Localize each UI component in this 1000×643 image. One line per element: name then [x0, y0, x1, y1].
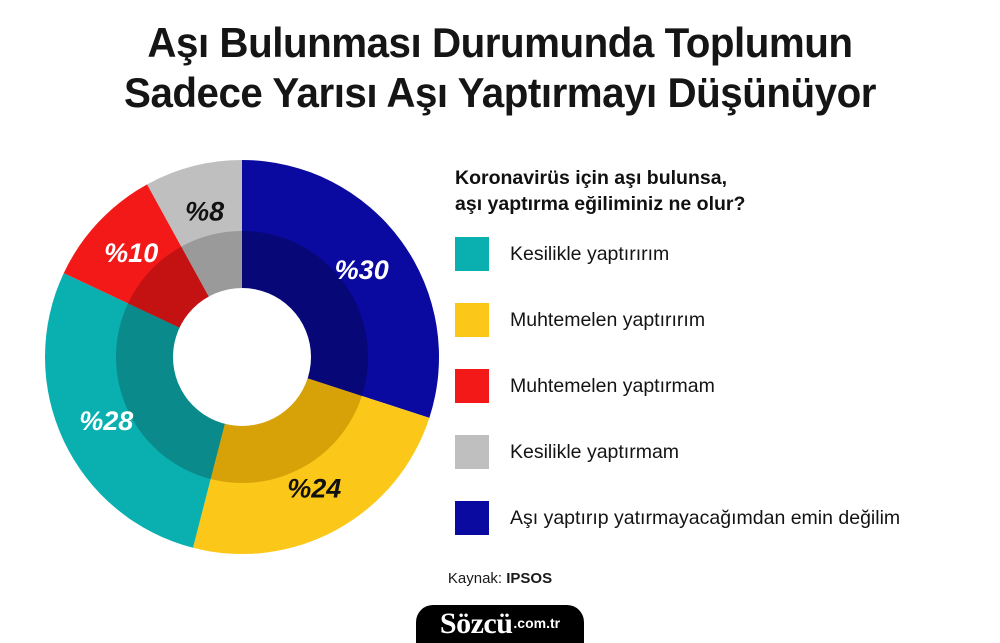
donut-chart-svg: %30%24%28%10%8 — [44, 159, 440, 555]
legend-item[interactable]: Muhtemelen yaptırırım — [455, 303, 985, 337]
legend-swatch — [455, 435, 489, 469]
pie-slice-label: %24 — [287, 473, 341, 503]
legend-swatch — [455, 501, 489, 535]
pie-slice-label: %10 — [104, 238, 158, 268]
legend-item[interactable]: Muhtemelen yaptırmam — [455, 369, 985, 403]
page-title: Aşı Bulunması Durumunda Toplumun Sadece … — [0, 18, 1000, 118]
legend-list: Kesilikle yaptırırımMuhtemelen yaptırırı… — [455, 237, 985, 535]
donut-hole — [173, 288, 311, 426]
legend-item[interactable]: Aşı yaptırıp yatırmayacağımdan emin deği… — [455, 501, 985, 535]
legend-item-label: Kesilikle yaptırmam — [510, 441, 679, 464]
legend-item-label: Muhtemelen yaptırırım — [510, 309, 705, 332]
source-label: Kaynak: — [448, 570, 502, 587]
legend-question-line-1: Koronavirüs için aşı bulunsa, — [455, 165, 985, 191]
legend-swatch — [455, 369, 489, 403]
pie-slice-label: %30 — [335, 255, 389, 285]
brand-logo: Sözcü .com.tr — [416, 605, 584, 643]
title-line-2: Sadece Yarısı Aşı Yaptırmayı Düşünüyor — [20, 68, 980, 118]
source-credit: Kaynak: IPSOS — [0, 570, 1000, 587]
chart-legend: Koronavirüs için aşı bulunsa, aşı yaptır… — [455, 165, 985, 535]
donut-chart: %30%24%28%10%8 — [44, 159, 440, 555]
legend-question-line-2: aşı yaptırma eğiliminiz ne olur? — [455, 191, 985, 217]
pie-slice-label: %8 — [185, 197, 224, 227]
legend-item[interactable]: Kesilikle yaptırmam — [455, 435, 985, 469]
brand-tld: .com.tr — [513, 607, 560, 643]
legend-item-label: Muhtemelen yaptırmam — [510, 375, 715, 398]
source-value: IPSOS — [506, 570, 552, 587]
legend-swatch — [455, 237, 489, 271]
pie-slice-label: %28 — [79, 406, 133, 436]
legend-swatch — [455, 303, 489, 337]
legend-item-label: Aşı yaptırıp yatırmayacağımdan emin deği… — [510, 507, 900, 530]
brand-name: Sözcü — [440, 608, 513, 640]
legend-item-label: Kesilikle yaptırırım — [510, 243, 669, 266]
legend-question: Koronavirüs için aşı bulunsa, aşı yaptır… — [455, 165, 985, 217]
legend-item[interactable]: Kesilikle yaptırırım — [455, 237, 985, 271]
title-line-1: Aşı Bulunması Durumunda Toplumun — [20, 18, 980, 68]
